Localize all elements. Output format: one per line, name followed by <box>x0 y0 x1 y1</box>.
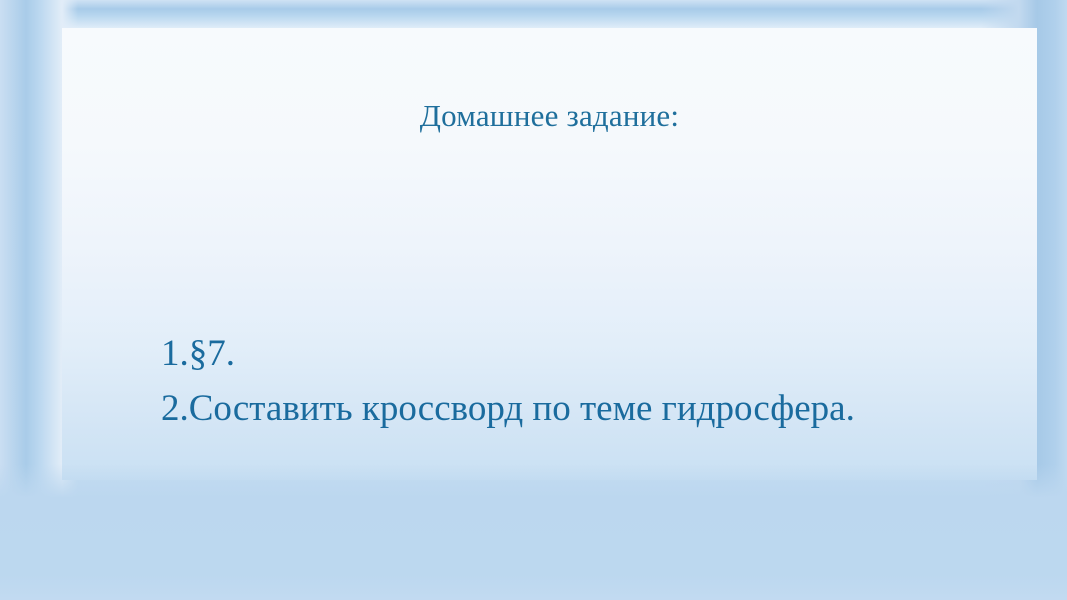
task-list-item: 2.Составить кроссворд по теме гидросфера… <box>161 381 855 436</box>
slide-frame-bottom <box>0 464 1067 600</box>
task-marker: 1. <box>161 333 189 374</box>
task-marker: 2. <box>161 388 189 429</box>
slide-title: Домашнее задание: <box>62 96 1037 136</box>
task-text: §7. <box>189 333 235 374</box>
homework-task-list: 1.§7. 2.Составить кроссворд по теме гидр… <box>161 326 855 436</box>
task-text: Составить кроссворд по теме гидросфера. <box>189 388 855 429</box>
presentation-slide: Домашнее задание: 1.§7. 2.Составить крос… <box>0 0 1067 600</box>
task-list-item: 1.§7. <box>161 326 855 381</box>
slide-content-panel: Домашнее задание: 1.§7. 2.Составить крос… <box>62 28 1037 480</box>
